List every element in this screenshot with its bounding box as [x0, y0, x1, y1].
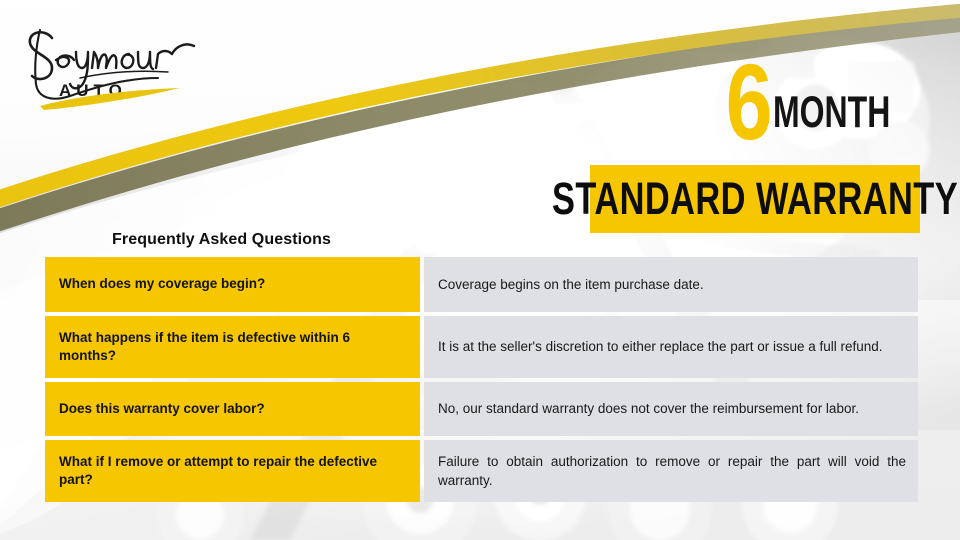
faq-question-text: What happens if the item is defective wi… — [59, 329, 406, 365]
table-row: What if I remove or attempt to repair th… — [45, 440, 918, 502]
faq-answer-text: No, our standard warranty does not cover… — [438, 399, 906, 418]
faq-answer-text: Coverage begins on the item purchase dat… — [438, 275, 906, 294]
warranty-slide: AUTO 6 MONTH STANDARD WARRANTY Frequentl… — [0, 0, 960, 540]
faq-answer-text: It is at the seller's discretion to eith… — [438, 337, 906, 356]
faq-question-text: Does this warranty cover labor? — [59, 400, 265, 418]
faq-question-cell: When does my coverage begin? — [45, 257, 420, 312]
faq-answer-cell: No, our standard warranty does not cover… — [424, 382, 918, 436]
faq-answer-cell: It is at the seller's discretion to eith… — [424, 316, 918, 378]
table-row: When does my coverage begin? Coverage be… — [45, 257, 918, 312]
table-row: Does this warranty cover labor? No, our … — [45, 382, 918, 436]
warranty-duration-line: 6 MONTH — [713, 52, 920, 151]
warranty-badge: 6 MONTH STANDARD WARRANTY — [590, 52, 922, 234]
faq-heading: Frequently Asked Questions — [112, 231, 331, 249]
faq-table: When does my coverage begin? Coverage be… — [45, 257, 918, 502]
faq-question-text: What if I remove or attempt to repair th… — [59, 453, 406, 489]
standard-warranty-banner: STANDARD WARRANTY — [590, 165, 920, 233]
seymour-auto-logo: AUTO — [18, 16, 208, 112]
faq-answer-text: Failure to obtain authorization to remov… — [438, 452, 906, 490]
faq-question-cell: What happens if the item is defective wi… — [45, 316, 420, 378]
faq-question-cell: Does this warranty cover labor? — [45, 382, 420, 436]
standard-warranty-label: STANDARD WARRANTY — [552, 173, 958, 224]
warranty-month-count: 6 — [726, 52, 771, 151]
faq-question-cell: What if I remove or attempt to repair th… — [45, 440, 420, 502]
faq-answer-cell: Failure to obtain authorization to remov… — [424, 440, 918, 502]
table-row: What happens if the item is defective wi… — [45, 316, 918, 378]
faq-answer-cell: Coverage begins on the item purchase dat… — [424, 257, 918, 312]
faq-question-text: When does my coverage begin? — [59, 275, 265, 293]
warranty-month-label: MONTH — [773, 91, 890, 136]
